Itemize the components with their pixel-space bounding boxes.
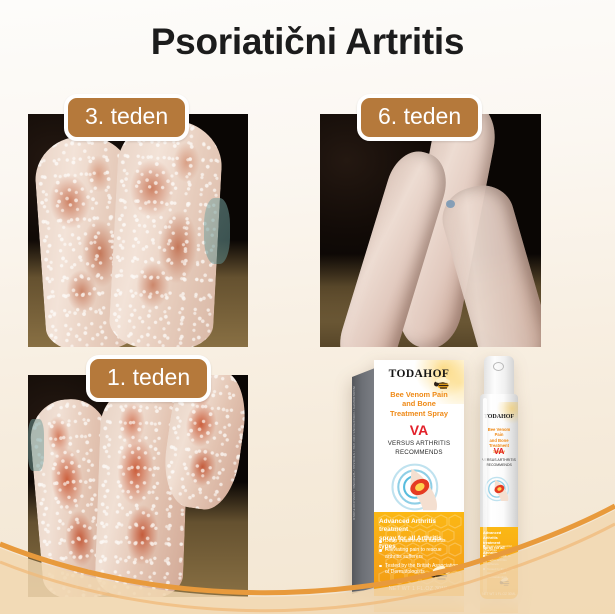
endorsement-line1: VERSUS ARTHRITIS xyxy=(378,439,460,448)
bottle-endorsement-line2: RECOMMENDS xyxy=(482,463,516,468)
bottom-wave-decoration xyxy=(0,484,615,614)
bottle-name-line1: Bee Venom Pain xyxy=(483,427,515,438)
bottle-endorsement: VERSUS ARTHRITIS RECOMMENDS xyxy=(482,458,516,468)
bottle-cap xyxy=(484,356,514,396)
honeycomb-icon xyxy=(494,402,518,424)
product-name-line2: and Bone xyxy=(380,399,458,408)
product-name-line1: Bee Venom Pain xyxy=(380,390,458,399)
spray-nozzle-icon xyxy=(493,362,504,371)
product-brand: TODAHOF xyxy=(374,368,464,380)
product-endorsement: VERSUS ARTHRITIS RECOMMENDS xyxy=(378,439,460,457)
photo-week3 xyxy=(28,114,248,347)
skin-mark xyxy=(446,200,455,208)
product-name: Bee Venom Pain and Bone Treatment Spray xyxy=(380,390,458,418)
badge-week1: 1. teden xyxy=(86,355,211,402)
product-name-line3: Treatment Spray xyxy=(380,409,458,418)
photo-week3-scene xyxy=(28,114,248,347)
badge-week3: 3. teden xyxy=(64,94,189,141)
fabric-accent xyxy=(204,198,230,264)
endorsement-line2: RECOMMENDS xyxy=(378,448,460,457)
product-va-label: VA xyxy=(374,422,464,438)
wave-band-light xyxy=(0,510,615,614)
photo-week6 xyxy=(320,114,541,347)
poster-canvas: Psoriatični Artritis 3. teden 6. teden xyxy=(0,0,615,614)
badge-week6: 6. teden xyxy=(357,94,482,141)
fabric-accent xyxy=(28,419,44,471)
page-title: Psoriatični Artritis xyxy=(0,20,615,64)
photo-week6-scene xyxy=(320,114,541,347)
